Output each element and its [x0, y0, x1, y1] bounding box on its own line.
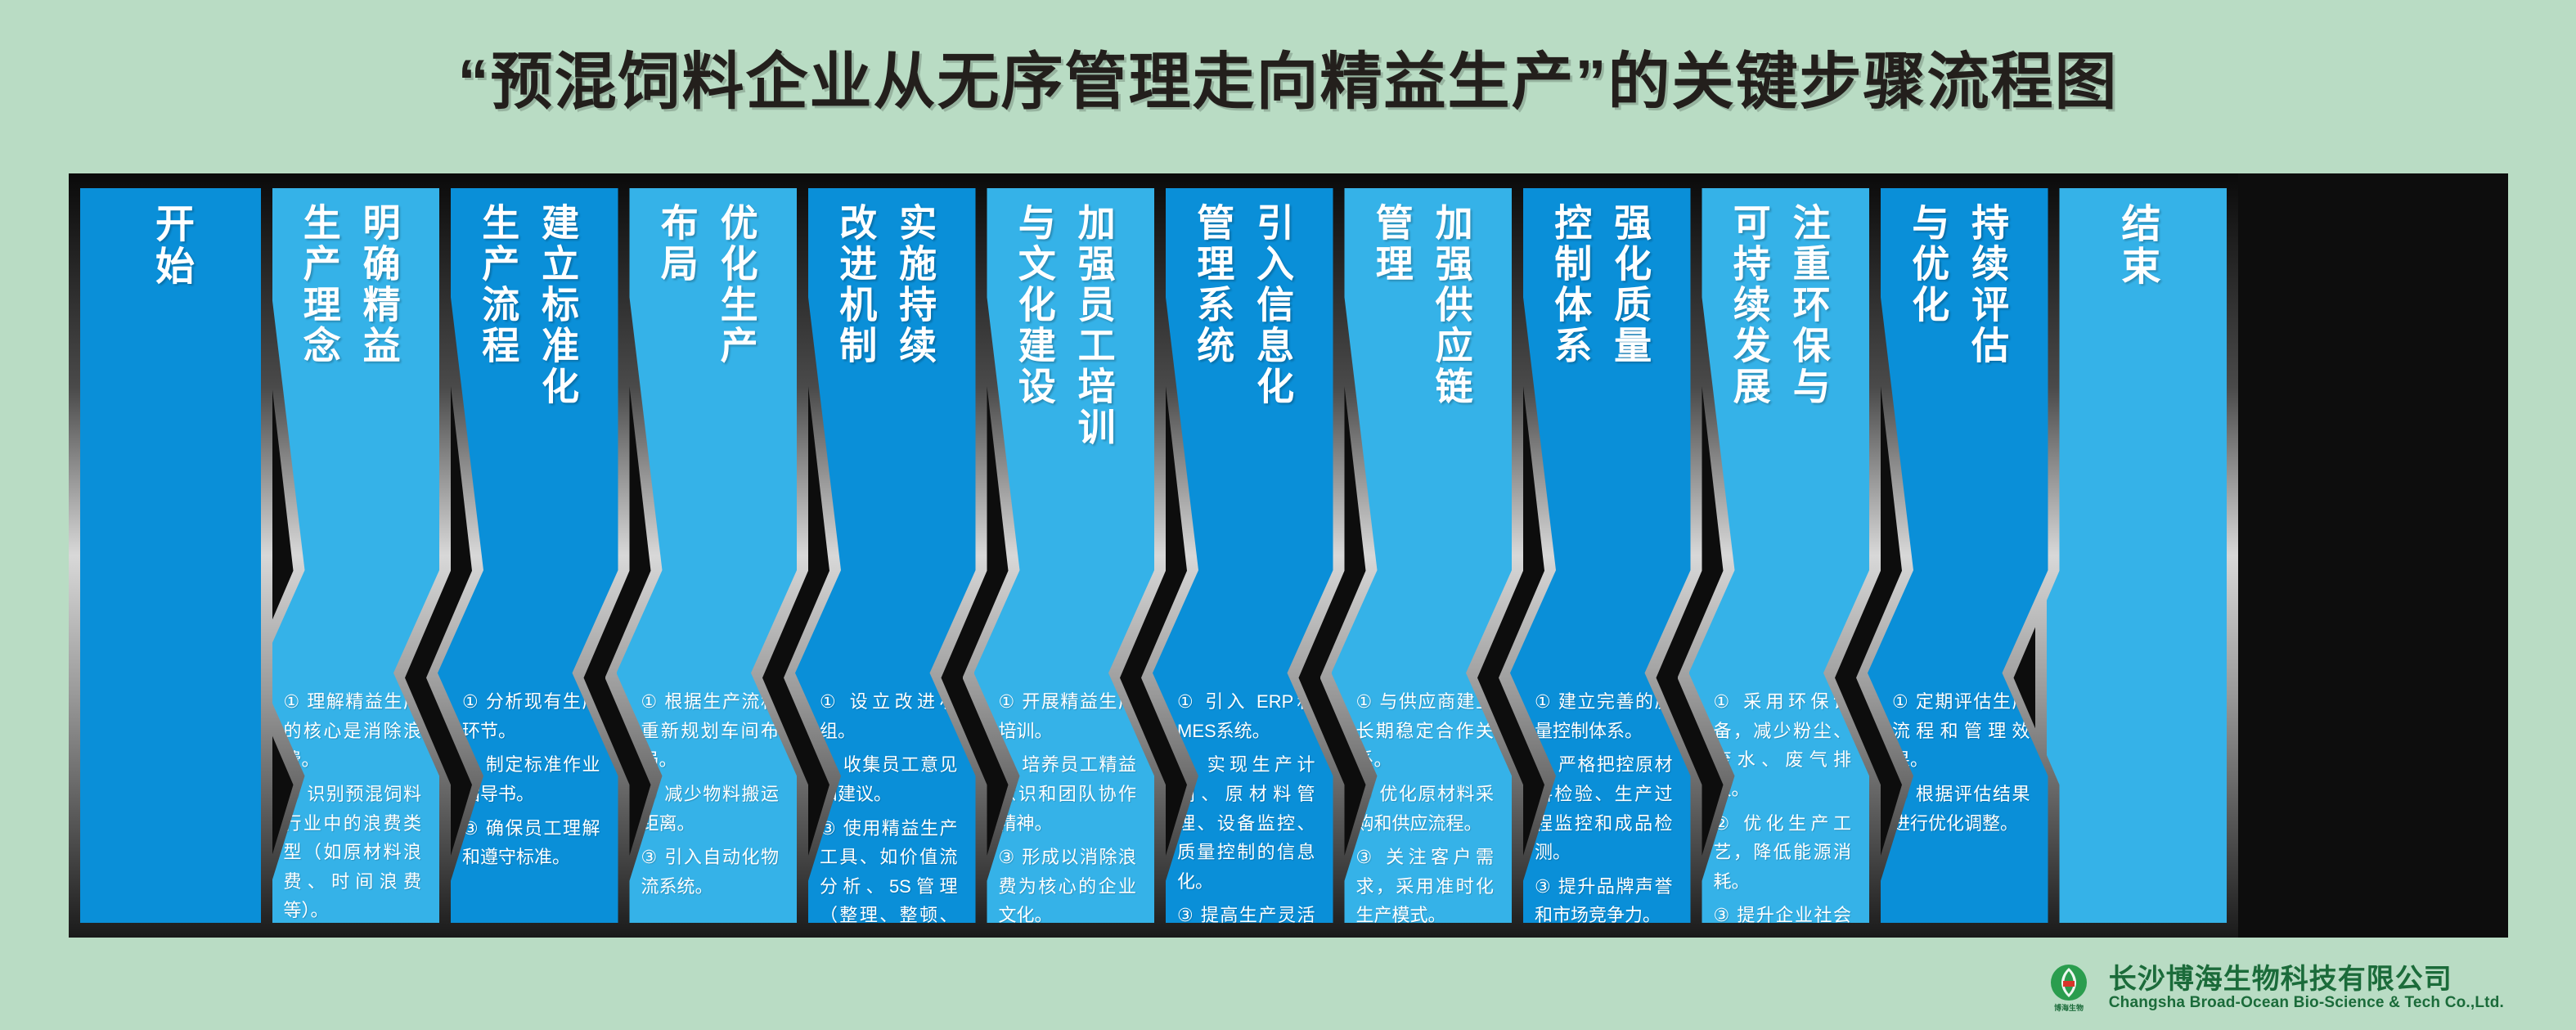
step-heading: 开始: [80, 203, 261, 546]
step-detail-list: ① 分析现有生产环节。② 制定标准作业指导书。③ 确保员工理解和遵守标准。: [462, 687, 600, 877]
flow-step-7[interactable]: 加强供应链管理① 与供应商建立长期稳定合作关系。② 优化原材料采购和供应流程。③…: [1320, 173, 1524, 938]
step-detail-item: ③ 形成以消除浪费为核心的企业文化。: [999, 843, 1137, 930]
step-detail-item: ① 定期评估生产流程和管理效果。: [1892, 687, 2030, 775]
step-heading-column: 可持续发展: [1725, 203, 1774, 407]
chevron-body: 开始: [80, 188, 261, 923]
step-detail-item: ① 根据生产流程重新规划车间布局。: [641, 687, 780, 775]
step-detail-list: ① 与供应商建立长期稳定合作关系。② 优化原材料采购和供应流程。③ 关注客户需求…: [1356, 687, 1495, 935]
step-heading-column: 明确精益: [355, 203, 403, 367]
step-detail-item: ① 分析现有生产环节。: [462, 687, 600, 745]
step-detail-item: ① 采用环保设备，减少粉尘、废水、废气排放。: [1714, 687, 1852, 804]
step-detail-item: ① 理解精益生产的核心是消除浪费。: [284, 687, 422, 775]
step-detail-item: ③ 提升品牌声誉和市场竞争力。: [1535, 872, 1673, 930]
step-detail-item: ① 设立改进小组。: [820, 687, 958, 745]
step-detail-item: ① 建立完善的质量控制体系。: [1535, 687, 1673, 745]
step-heading-column: 引入信息化: [1248, 203, 1297, 407]
step-detail-item: ② 实现生产计划、原材料管理、设备监控、质量控制的信息化。: [1177, 750, 1315, 896]
page-title: “预混饲料企业从无序管理走向精益生产”的关键步骤流程图: [0, 31, 2576, 121]
flow-step-4[interactable]: 实施持续改进机制① 设立改进小组。② 收集员工意见和建议。③ 使用精益生产工具、…: [784, 173, 987, 938]
step-detail-list: ① 引入 ERP和MES系统。② 实现生产计划、原材料管理、设备监控、质量控制的…: [1177, 687, 1315, 938]
flow-terminator-end[interactable]: 结束: [2035, 173, 2239, 938]
step-heading-column: 注重环保与: [1785, 203, 1833, 407]
step-detail-list: ① 定期评估生产流程和管理效果。② 根据评估结果进行优化调整。: [1892, 687, 2030, 843]
step-detail-item: ① 开展精益生产培训。: [999, 687, 1137, 745]
step-heading-column: 加强供应链: [1427, 203, 1476, 407]
footer-branding: 博海生物 长沙博海生物科技有限公司 Changsha Broad-Ocean B…: [2043, 961, 2504, 1015]
company-name-en: Changsha Broad-Ocean Bio-Science & Tech …: [2109, 995, 2504, 1012]
chevron-body: 结束: [2047, 188, 2228, 923]
step-detail-list: ① 采用环保设备，减少粉尘、废水、废气排放。② 优化生产工艺，降低能源消耗。③ …: [1714, 687, 1852, 938]
flow-step-1[interactable]: 明确精益生产理念① 理解精益生产的核心是消除浪费。② 识别预混饲料行业中的浪费类…: [248, 173, 452, 938]
step-detail-item: ② 识别预混饲料行业中的浪费类型（如原材料浪费、时间浪费等）。: [284, 780, 422, 925]
step-heading-column: 改进机制: [831, 203, 879, 367]
step-detail-item: ② 优化原材料采购和供应流程。: [1356, 780, 1495, 838]
step-heading-column: 管理系统: [1189, 203, 1237, 367]
step-detail-item: ③ 使用精益生产工具、如价值流分析、5S管理（整理、整顿、清扫、清洁、素养）等。: [820, 814, 958, 938]
step-detail-item: ① 与供应商建立长期稳定合作关系。: [1356, 687, 1495, 775]
step-detail-item: ③ 关注客户需求，采用准时化生产模式。: [1356, 843, 1495, 930]
step-heading-column: 结束: [2111, 203, 2161, 288]
flow-step-3[interactable]: 优化生产布局① 根据生产流程重新规划车间布局。② 减少物料搬运距离。③ 引入自动…: [605, 173, 809, 938]
flowchart-step-strip: 开始明确精益生产理念① 理解精益生产的核心是消除浪费。② 识别预混饲料行业中的浪…: [69, 173, 2508, 938]
flow-step-6[interactable]: 引入信息化管理系统① 引入 ERP和MES系统。② 实现生产计划、原材料管理、设…: [1141, 173, 1345, 938]
step-detail-item: ③ 确保员工理解和遵守标准。: [462, 814, 600, 872]
step-heading-column: 持续评估: [1963, 203, 2012, 367]
step-heading-column: 生产流程: [474, 203, 522, 367]
step-heading-column: 优化生产: [713, 203, 761, 367]
flow-step-2[interactable]: 建立标准化生产流程① 分析现有生产环节。② 制定标准作业指导书。③ 确保员工理解…: [426, 173, 630, 938]
step-detail-list: ① 开展精益生产培训。② 培养员工精益意识和团队协作精神。③ 形成以消除浪费为核…: [999, 687, 1137, 935]
footer-company-text: 长沙博海生物科技有限公司 Changsha Broad-Ocean Bio-Sc…: [2109, 965, 2504, 1011]
step-detail-list: ① 建立完善的质量控制体系。② 严格把控原材料检验、生产过程监控和成品检测。③ …: [1535, 687, 1673, 935]
step-heading-column: 与优化: [1904, 203, 1952, 326]
flow-terminator-start[interactable]: 开始: [69, 173, 272, 938]
step-heading-column: 与文化建设: [1010, 203, 1059, 407]
step-heading-column: 控制体系: [1546, 203, 1594, 367]
leaf-logo-icon: 博海生物: [2043, 961, 2094, 1015]
step-heading-column: 生产理念: [295, 203, 344, 367]
step-heading-column: 加强员工培训: [1070, 203, 1118, 448]
step-heading-column: 管理: [1368, 203, 1416, 285]
step-detail-list: ① 理解精益生产的核心是消除浪费。② 识别预混饲料行业中的浪费类型（如原材料浪费…: [284, 687, 422, 930]
step-heading-column: 实施持续: [891, 203, 939, 367]
step-detail-item: ② 收集员工意见和建议。: [820, 750, 958, 808]
step-heading: 结束: [2047, 203, 2228, 546]
step-detail-item: ② 培养员工精益意识和团队协作精神。: [999, 750, 1137, 838]
flow-step-5[interactable]: 加强员工培训与文化建设① 开展精益生产培训。② 培养员工精益意识和团队协作精神。…: [963, 173, 1167, 938]
step-detail-item: ② 根据评估结果进行优化调整。: [1892, 780, 2030, 838]
flow-step-10[interactable]: 持续评估与优化① 定期评估生产流程和管理效果。② 根据评估结果进行优化调整。: [1856, 173, 2060, 938]
step-heading-column: 强化质量: [1606, 203, 1654, 367]
flow-step-8[interactable]: 强化质量控制体系① 建立完善的质量控制体系。② 严格把控原材料检验、生产过程监控…: [1499, 173, 1702, 938]
company-name-cn: 长沙博海生物科技有限公司: [2109, 965, 2504, 995]
step-detail-item: ① 引入 ERP和MES系统。: [1177, 687, 1315, 745]
step-detail-item: ② 严格把控原材料检验、生产过程监控和成品检测。: [1535, 750, 1673, 867]
step-heading-column: 布局: [653, 203, 701, 285]
step-detail-item: ② 优化生产工艺，降低能源消耗。: [1714, 809, 1852, 897]
step-detail-item: ② 制定标准作业指导书。: [462, 750, 600, 808]
svg-text:博海生物: 博海生物: [2054, 1003, 2084, 1012]
step-detail-list: ① 设立改进小组。② 收集员工意见和建议。③ 使用精益生产工具、如价值流分析、5…: [820, 687, 958, 938]
flow-step-9[interactable]: 注重环保与可持续发展① 采用环保设备，减少粉尘、废水、废气排放。② 优化生产工艺…: [1678, 173, 1881, 938]
step-detail-item: ③ 引入自动化物流系统。: [641, 843, 780, 901]
step-heading-column: 开始: [146, 203, 196, 288]
step-heading-column: 建立标准化: [533, 203, 582, 407]
step-detail-list: ① 根据生产流程重新规划车间布局。② 减少物料搬运距离。③ 引入自动化物流系统。: [641, 687, 780, 906]
step-detail-item: ② 减少物料搬运距离。: [641, 780, 780, 838]
flowchart-board: 开始明确精益生产理念① 理解精益生产的核心是消除浪费。② 识别预混饲料行业中的浪…: [69, 173, 2508, 938]
